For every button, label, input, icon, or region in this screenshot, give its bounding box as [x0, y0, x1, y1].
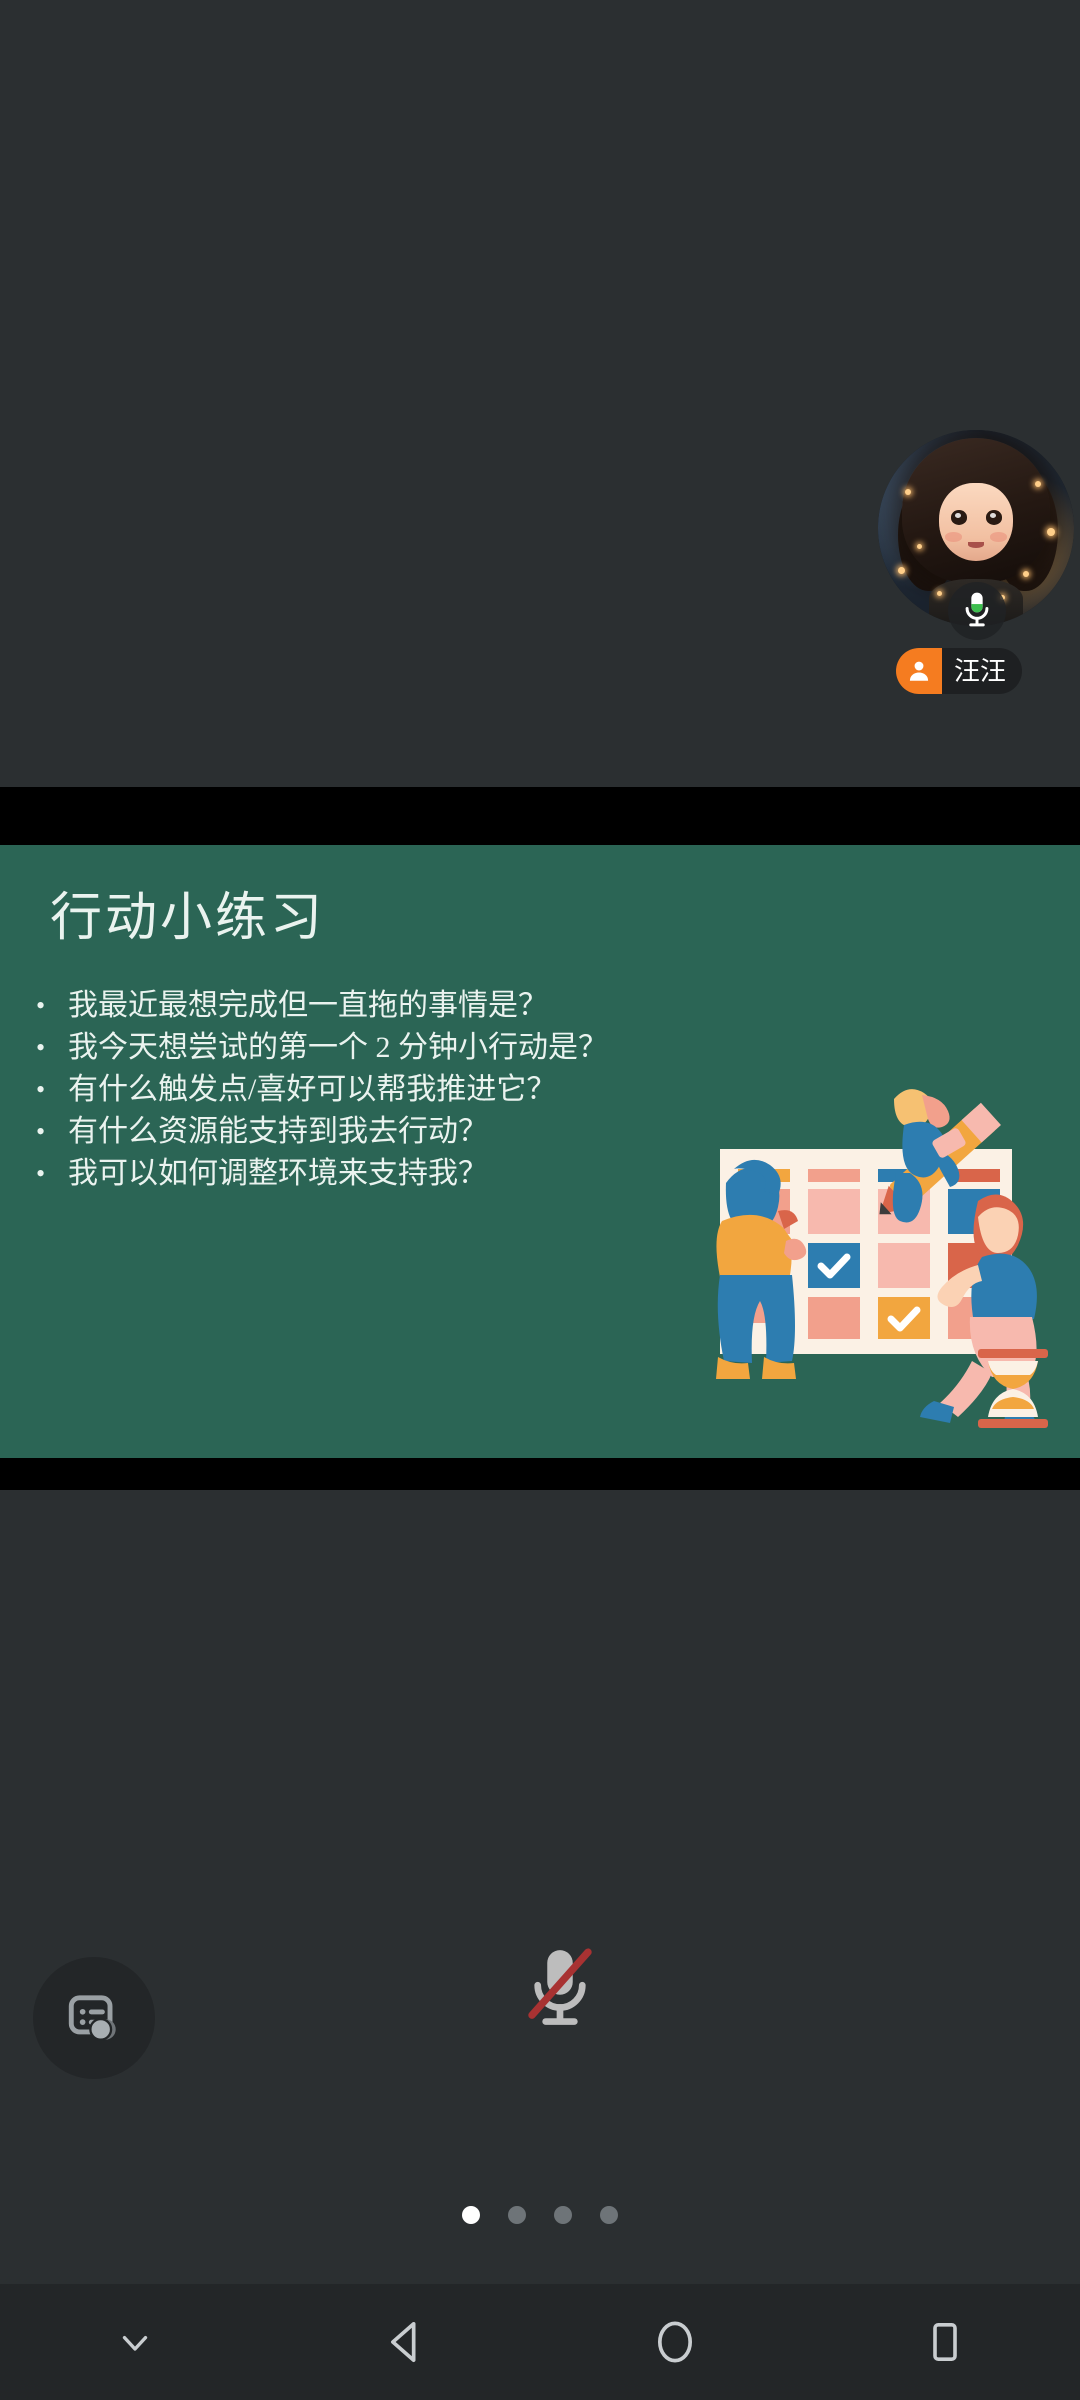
slide-bullet-list: 我最近最想完成但一直拖的事情是？ 我今天想尝试的第一个 2 分钟小行动是？ 有什…: [36, 985, 736, 1195]
participant-tile[interactable]: 汪汪: [872, 430, 1080, 700]
recents-button[interactable]: [875, 2284, 1015, 2400]
slide-bullet-item: 有什么资源能支持到我去行动？: [36, 1111, 736, 1153]
person-icon: [896, 648, 942, 694]
page-dot-4[interactable]: [600, 2206, 618, 2224]
page-dot-2[interactable]: [508, 2206, 526, 2224]
letterbox-bottom: [0, 1458, 1080, 1490]
microphone-off-icon: [521, 1947, 599, 2033]
slide-bullet-item: 有什么触发点/喜好可以帮我推进它？: [36, 1069, 736, 1111]
android-nav-bar[interactable]: [0, 2284, 1080, 2400]
chevron-down-icon: [114, 2321, 156, 2363]
participant-name-badge: 汪汪: [896, 648, 1022, 694]
mic-level-indicator: [948, 582, 1006, 640]
video-stage[interactable]: 汪汪 行动小练习 我最近最想完成但一直拖的事情是？ 我今天想尝试的第一个 2 分…: [0, 0, 1080, 2284]
participant-name-label: 汪汪: [942, 648, 1022, 694]
planning-board-illustration: [682, 1061, 1062, 1446]
letterbox-top: [0, 787, 1080, 845]
square-icon: [921, 2318, 969, 2366]
page-dot-3[interactable]: [554, 2206, 572, 2224]
microphone-icon: [960, 591, 994, 631]
mute-mic-button[interactable]: [500, 1930, 620, 2050]
poll-button[interactable]: [33, 1957, 155, 2079]
triangle-left-icon: [379, 2316, 431, 2368]
slide-title: 行动小练习: [50, 875, 325, 950]
home-button[interactable]: [605, 2284, 745, 2400]
hide-keyboard-button[interactable]: [65, 2284, 205, 2400]
slide-bullet-item: 我可以如何调整环境来支持我？: [36, 1153, 736, 1195]
slide-bullet-item: 我今天想尝试的第一个 2 分钟小行动是？: [36, 1027, 736, 1069]
poll-icon: [63, 1987, 125, 2049]
circle-icon: [649, 2316, 701, 2368]
shared-slide[interactable]: 行动小练习 我最近最想完成但一直拖的事情是？ 我今天想尝试的第一个 2 分钟小行…: [0, 845, 1080, 1458]
page-dot-1[interactable]: [462, 2206, 480, 2224]
page-indicator[interactable]: [0, 2206, 1080, 2224]
back-button[interactable]: [335, 2284, 475, 2400]
slide-bullet-item: 我最近最想完成但一直拖的事情是？: [36, 985, 736, 1027]
